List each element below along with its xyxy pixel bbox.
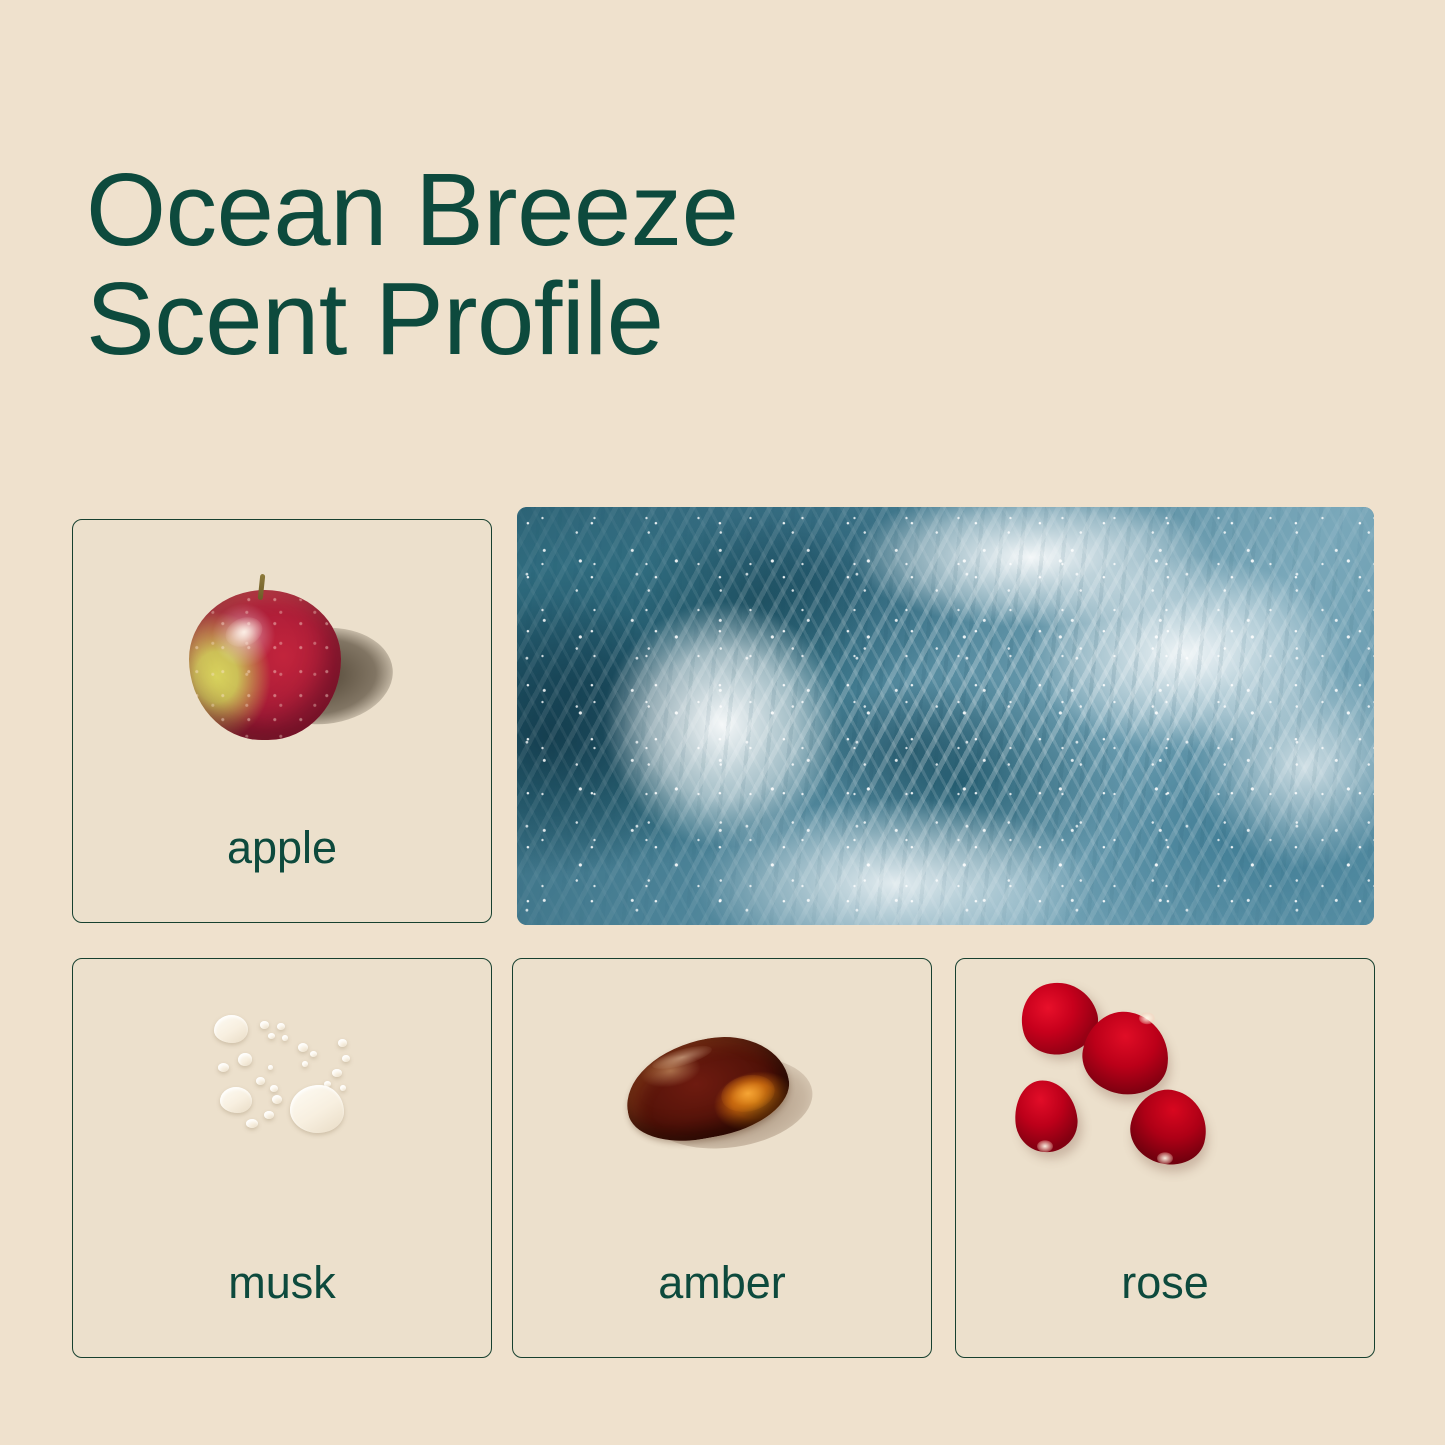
- droplet: [340, 1085, 346, 1091]
- card-label-apple: apple: [73, 825, 491, 870]
- droplet: [268, 1065, 273, 1070]
- droplet: [260, 1021, 269, 1029]
- droplet: [310, 1051, 317, 1057]
- rose-petal-tip: [1157, 1152, 1173, 1164]
- droplet: [218, 1063, 229, 1072]
- scent-card-amber[interactable]: amber: [512, 958, 932, 1358]
- droplet: [270, 1085, 278, 1092]
- card-label-amber: amber: [513, 1260, 931, 1305]
- droplet: [272, 1095, 282, 1104]
- page-title: Ocean Breeze Scent Profile: [86, 155, 986, 373]
- droplet: [246, 1119, 258, 1128]
- droplet: [277, 1023, 285, 1030]
- rose-petals-icon: [1015, 974, 1315, 1204]
- amber-image: [513, 959, 931, 1247]
- amber-stone-icon: [617, 1027, 827, 1167]
- droplet: [290, 1085, 344, 1133]
- apple-image: [73, 520, 491, 812]
- rose-image: [956, 959, 1374, 1247]
- rose-petal-tip: [1139, 1012, 1155, 1024]
- scent-card-musk[interactable]: musk: [72, 958, 492, 1358]
- apple-speckles: [189, 590, 341, 740]
- card-label-musk: musk: [73, 1260, 491, 1305]
- droplet: [256, 1077, 265, 1085]
- liquid-droplets-icon: [152, 999, 412, 1199]
- droplet: [238, 1053, 252, 1066]
- droplet: [342, 1055, 350, 1062]
- droplet: [298, 1043, 308, 1052]
- droplet: [338, 1039, 347, 1047]
- droplet: [302, 1061, 308, 1067]
- apple-fruit-icon: [167, 566, 397, 766]
- droplet: [282, 1035, 288, 1041]
- ocean-wave-image: [517, 507, 1374, 925]
- rose-petal-tip: [1037, 1140, 1053, 1152]
- droplet: [214, 1015, 248, 1043]
- droplet: [332, 1069, 342, 1077]
- musk-image: [73, 959, 491, 1247]
- scent-card-apple[interactable]: apple: [72, 519, 492, 923]
- droplet: [220, 1087, 252, 1113]
- scent-profile-page: Ocean Breeze Scent Profile apple: [0, 0, 1445, 1445]
- card-label-rose: rose: [956, 1260, 1374, 1305]
- droplet: [268, 1033, 275, 1039]
- ocean-spray-layer: [517, 507, 1374, 925]
- scent-card-rose[interactable]: rose: [955, 958, 1375, 1358]
- droplet: [264, 1111, 274, 1119]
